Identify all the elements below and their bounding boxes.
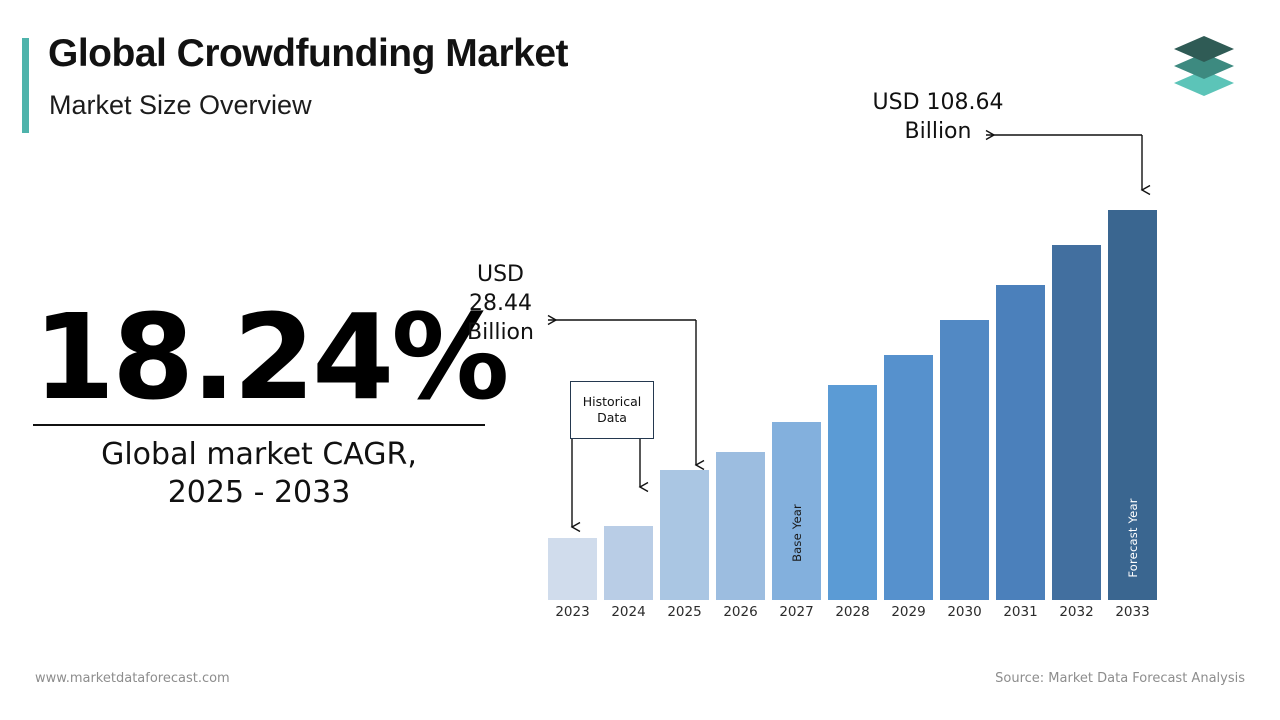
cagr-block: 18.24% Global market CAGR, 2025 - 2033 — [33, 298, 485, 513]
bar-tag-base-year: Base Year — [790, 504, 804, 562]
bar-2025[interactable] — [660, 470, 709, 600]
footer-source: Source: Market Data Forecast Analysis — [995, 671, 1245, 686]
callout-right-line-2: Billion — [838, 117, 1038, 146]
callout-left-line-3: Billion — [448, 318, 553, 347]
page-title: Global Crowdfunding Market — [48, 34, 568, 73]
callout-left-line-1: USD — [448, 260, 553, 289]
callout-right-line-1: USD 108.64 — [838, 88, 1038, 117]
cagr-caption: Global market CAGR, 2025 - 2033 — [33, 436, 485, 513]
x-tick-2029: 2029 — [884, 604, 933, 620]
cagr-value: 18.24% — [33, 298, 485, 416]
stacked-diamonds-icon — [1166, 30, 1242, 100]
bar-2030[interactable] — [940, 320, 989, 600]
bar-2033[interactable]: Forecast Year — [1108, 210, 1157, 600]
cagr-caption-line-2: 2025 - 2033 — [33, 474, 485, 512]
title-accent-bar — [22, 38, 29, 133]
bar-2026[interactable] — [716, 452, 765, 600]
x-tick-2026: 2026 — [716, 604, 765, 620]
page-subtitle: Market Size Overview — [49, 92, 312, 119]
bar-2028[interactable] — [828, 385, 877, 600]
callout-2033-value: USD 108.64 Billion — [838, 88, 1038, 146]
x-tick-2024: 2024 — [604, 604, 653, 620]
callout-2025-value: USD 28.44 Billion — [448, 260, 553, 347]
x-tick-2030: 2030 — [940, 604, 989, 620]
infographic-canvas: Global Crowdfunding Market Market Size O… — [0, 0, 1280, 720]
callout-left-line-2: 28.44 — [448, 289, 553, 318]
brand-logo — [1166, 30, 1242, 100]
bar-2032[interactable] — [1052, 245, 1101, 600]
x-tick-2033: 2033 — [1108, 604, 1157, 620]
x-axis-labels: 2023202420252026202720282029203020312032… — [548, 604, 1160, 624]
cagr-caption-line-1: Global market CAGR, — [33, 436, 485, 474]
bar-tag-forecast-year: Forecast Year — [1126, 498, 1140, 577]
bar-2029[interactable] — [884, 355, 933, 600]
bar-chart: Base YearForecast Year — [548, 210, 1160, 600]
x-tick-2027: 2027 — [772, 604, 821, 620]
footer-website[interactable]: www.marketdataforecast.com — [35, 671, 230, 686]
bar-2024[interactable] — [604, 526, 653, 600]
x-tick-2031: 2031 — [996, 604, 1045, 620]
x-tick-2032: 2032 — [1052, 604, 1101, 620]
bar-2027[interactable]: Base Year — [772, 422, 821, 600]
x-tick-2025: 2025 — [660, 604, 709, 620]
x-tick-2028: 2028 — [828, 604, 877, 620]
bar-2031[interactable] — [996, 285, 1045, 600]
bar-2023[interactable] — [548, 538, 597, 600]
x-tick-2023: 2023 — [548, 604, 597, 620]
